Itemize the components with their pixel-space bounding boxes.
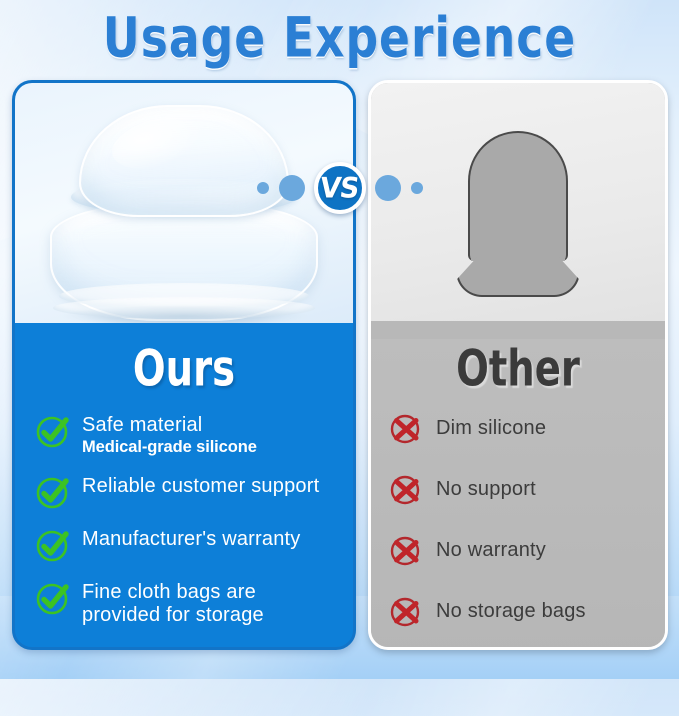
feature-main-text: Dim silicone bbox=[436, 417, 546, 440]
cross-circle-icon bbox=[389, 472, 423, 506]
list-item: Fine cloth bags are provided for storage bbox=[35, 580, 339, 626]
list-item: Safe material Medical-grade silicone bbox=[35, 413, 339, 457]
other-content: Other Dim silicone No support bbox=[371, 339, 665, 650]
check-circle-icon bbox=[35, 527, 71, 563]
list-item-text: Safe material Medical-grade silicone bbox=[82, 413, 257, 457]
other-feature-list: Dim silicone No support No warranty bbox=[371, 411, 665, 628]
ours-content: Ours Safe material Medical-grade silicon… bbox=[15, 323, 353, 650]
feature-main-text: Safe material bbox=[82, 414, 257, 437]
list-item-text: Reliable customer support bbox=[82, 474, 319, 498]
list-item: Manufacturer's warranty bbox=[35, 527, 339, 563]
cross-circle-icon bbox=[389, 411, 423, 445]
cross-circle-icon bbox=[389, 594, 423, 628]
feature-main-text: No storage bags bbox=[436, 600, 586, 623]
feature-main-text: No warranty bbox=[436, 539, 546, 562]
ours-product-image bbox=[15, 83, 353, 323]
list-item: No warranty bbox=[389, 533, 655, 567]
bell-body-shape bbox=[468, 131, 568, 261]
ours-panel: Ours Safe material Medical-grade silicon… bbox=[12, 80, 356, 650]
check-circle-icon bbox=[35, 474, 71, 510]
list-item: No storage bags bbox=[389, 594, 655, 628]
feature-main-text: Manufacturer's warranty bbox=[82, 528, 301, 551]
list-item-text: Manufacturer's warranty bbox=[82, 527, 301, 551]
cup-shadow bbox=[59, 305, 309, 323]
feature-main-text: Fine cloth bags are provided for storage bbox=[82, 581, 339, 626]
list-item-text: Fine cloth bags are provided for storage bbox=[82, 580, 339, 626]
other-heading: Other bbox=[380, 339, 656, 398]
other-panel: Other Dim silicone No support bbox=[368, 80, 668, 650]
page-title: Usage Experience bbox=[10, 6, 669, 71]
list-item: Dim silicone bbox=[389, 411, 655, 445]
check-circle-icon bbox=[35, 580, 71, 616]
other-product-image bbox=[371, 83, 665, 321]
feature-main-text: No support bbox=[436, 478, 536, 501]
ours-feature-list: Safe material Medical-grade silicone Rel… bbox=[15, 413, 353, 626]
list-item: No support bbox=[389, 472, 655, 506]
cross-circle-icon bbox=[389, 533, 423, 567]
ours-heading: Ours bbox=[25, 339, 343, 398]
list-item: Reliable customer support bbox=[35, 474, 339, 510]
feature-sub-text: Medical-grade silicone bbox=[82, 437, 257, 458]
feature-main-text: Reliable customer support bbox=[82, 475, 319, 498]
check-circle-icon bbox=[35, 413, 71, 449]
